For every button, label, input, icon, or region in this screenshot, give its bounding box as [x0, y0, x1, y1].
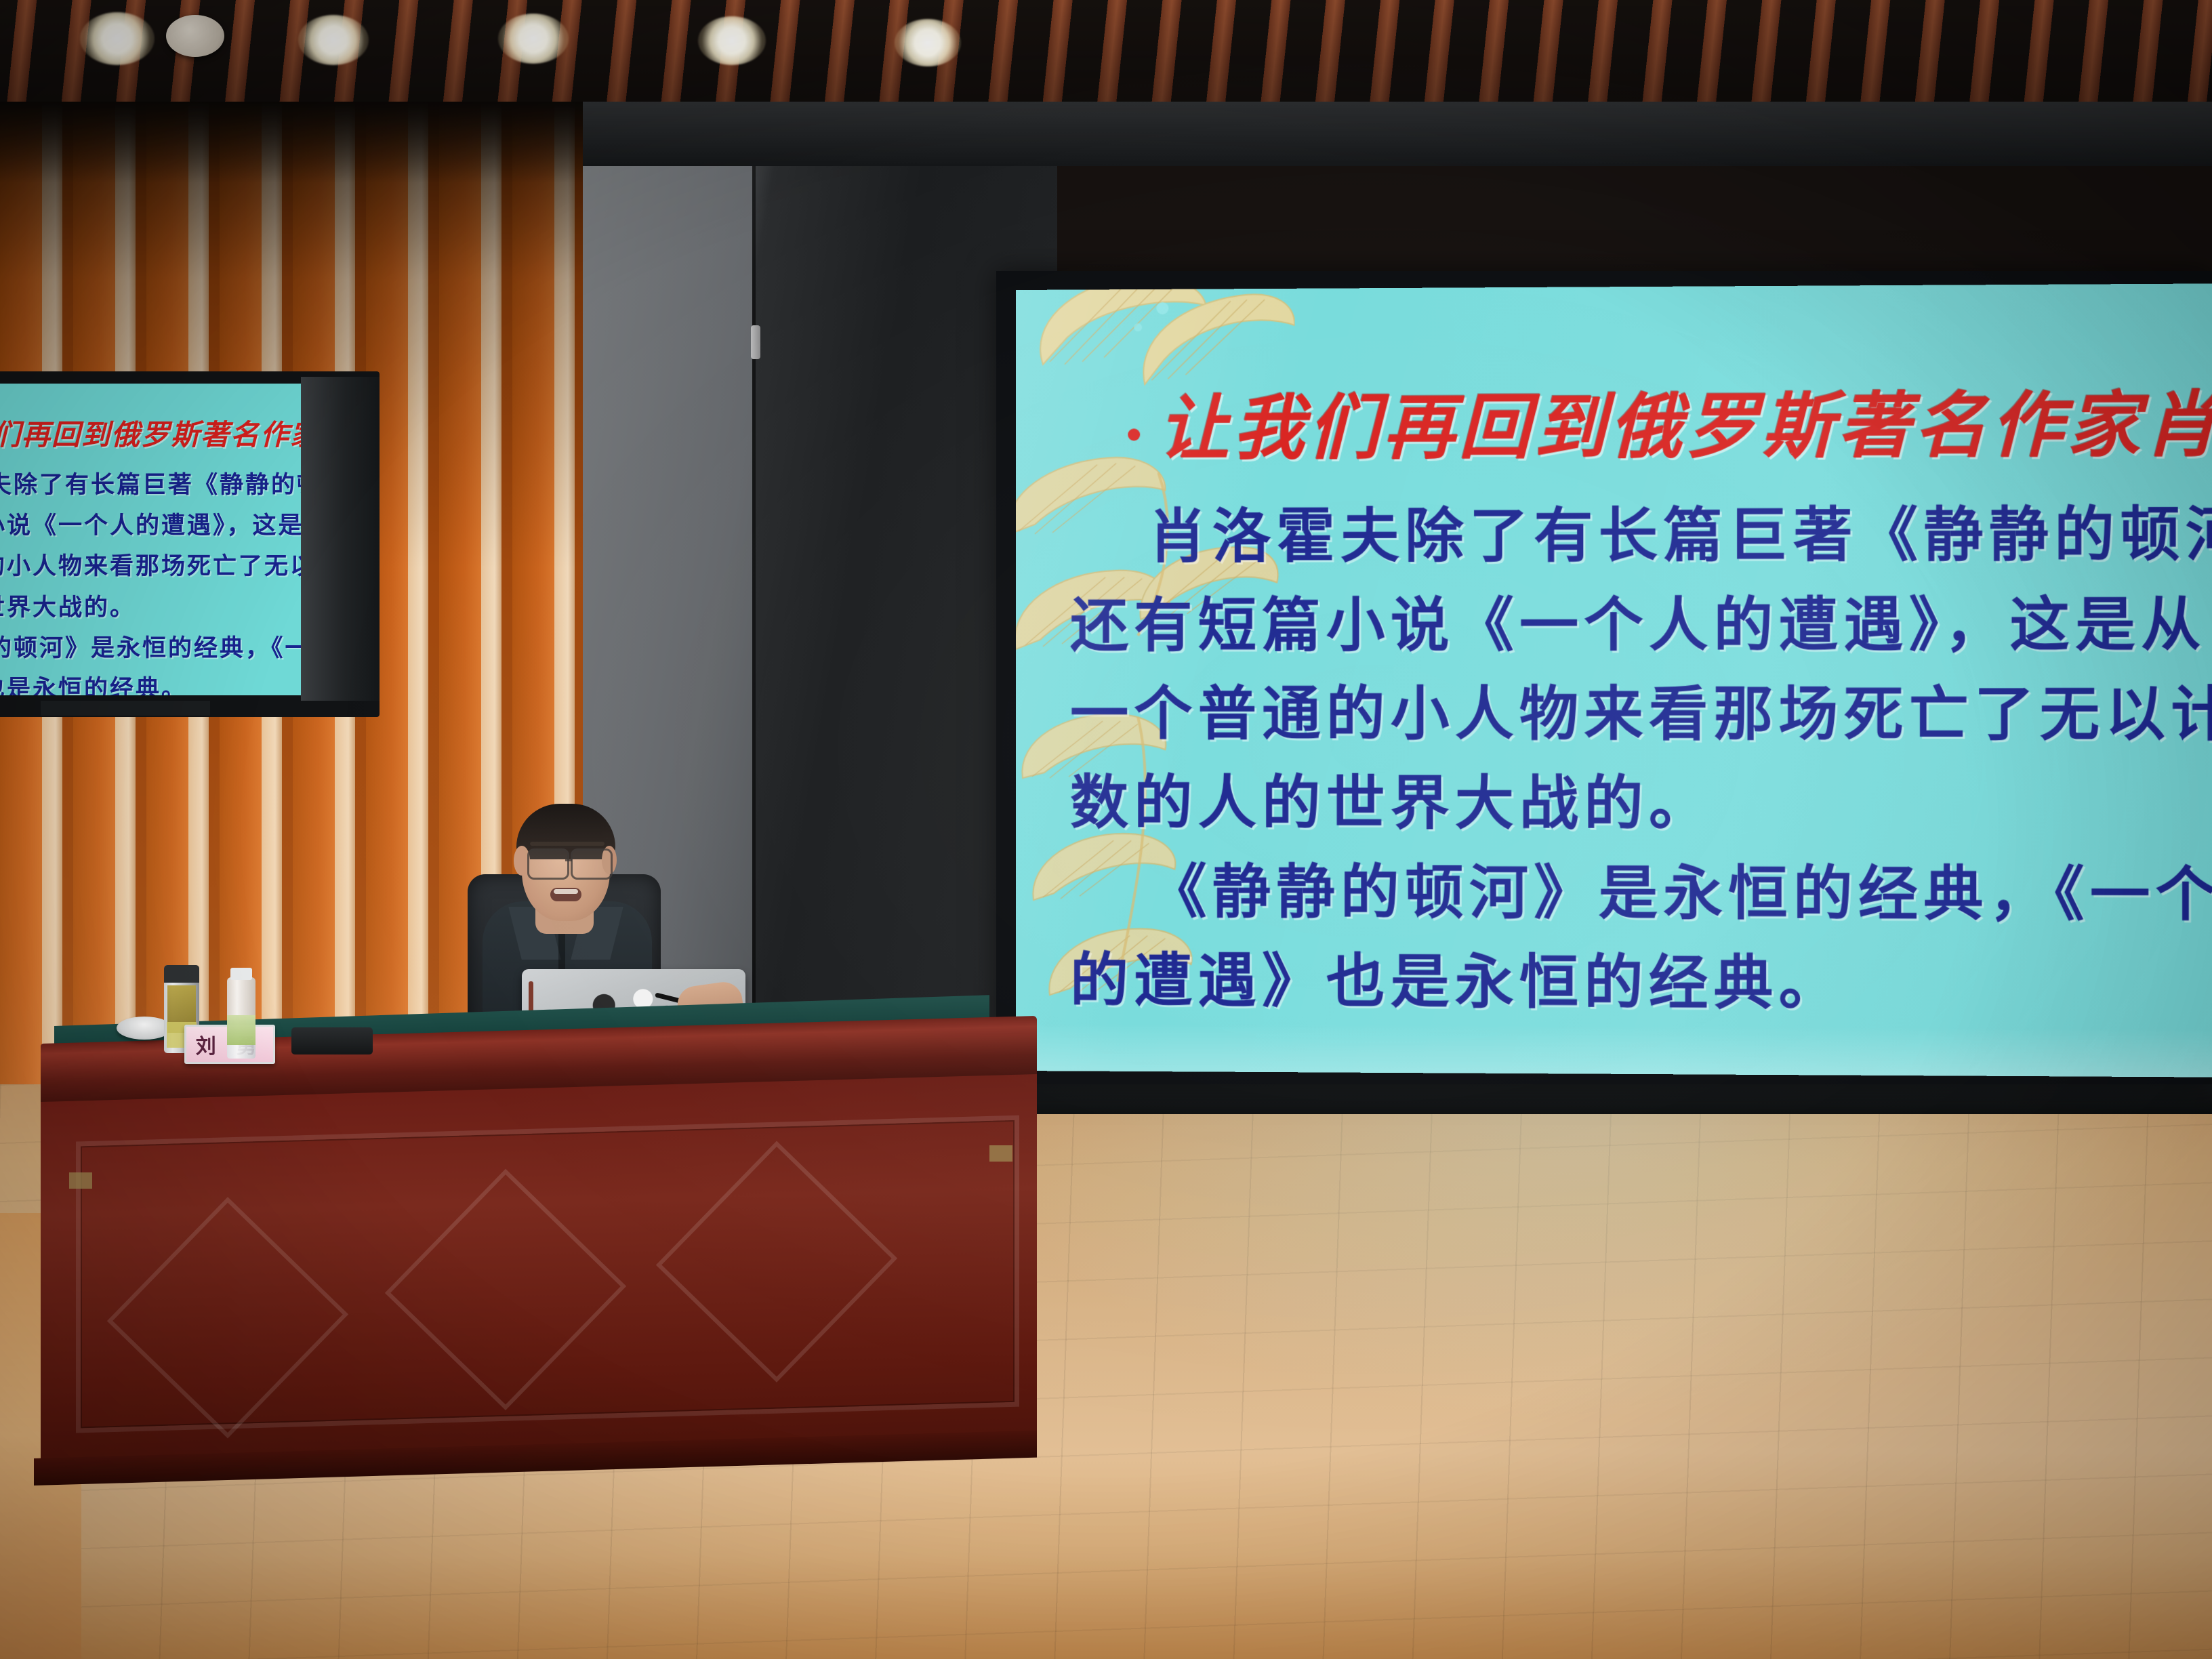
confidence-monitor-screen: 让我们再回到俄罗斯著名作家肖洛霍夫 肖洛霍夫除了有长篇巨著《静静的顿河》， 还有… [0, 384, 301, 695]
slide-body-line: 《静静的顿河》是永恒的经典，《一个人 [1070, 848, 2212, 941]
confidence-monitor-stand [41, 701, 210, 716]
desk-brass-tab [989, 1145, 1012, 1162]
ceiling-downlight [498, 14, 569, 64]
confidence-monitor-body: 肖洛霍夫除了有长篇巨著《静静的顿河》， 还有短篇小说《一个人的遭遇》，这是从 一… [0, 465, 301, 695]
ceiling-downlight [895, 19, 961, 66]
ceiling-downlight [80, 12, 155, 65]
wall-top-shadow [0, 102, 610, 183]
ceiling-downlight [298, 15, 369, 65]
slide-body: 肖洛霍夫除了有长篇巨著《静静的顿河》， 还有短篇小说《一个人的遭遇》，这是从 一… [1070, 490, 2212, 1031]
screen-bottom-glow [1016, 1023, 2212, 1078]
confidence-line: 《静静的顿河》是永恒的经典，《一个人 [0, 628, 301, 669]
confidence-line: 数的人的世界大战的。 [0, 588, 301, 628]
confidence-line: 一个普通的小人物来看那场死亡了无以计 [0, 546, 301, 587]
eyeglasses-lens-right [571, 848, 613, 880]
confidence-line: 肖洛霍夫除了有长篇巨著《静静的顿河》， [0, 465, 301, 506]
title-bullet-dot [1128, 428, 1140, 441]
slide-body-line: 肖洛霍夫除了有长篇巨著《静静的顿河》， [1070, 490, 2212, 581]
confidence-line: 的遭遇》也是永恒的经典。 [0, 669, 301, 695]
slide-title: 让我们再回到俄罗斯著名作家肖洛霍夫 [1158, 365, 2212, 473]
ceiling-downlight [698, 16, 766, 65]
eyeglasses-bridge [565, 859, 572, 861]
bottle-label [227, 1015, 255, 1045]
slide-body-line: 数的人的世界大战的。 [1070, 759, 2212, 851]
speaker-mouth [550, 888, 581, 901]
confidence-line: 还有短篇小说《一个人的遭遇》，这是从 [0, 506, 301, 546]
presenter-desk [41, 1044, 1037, 1532]
thermos-cap [164, 965, 199, 983]
screen-baseboard [983, 1082, 2212, 1114]
desk-brass-tab [69, 1172, 92, 1189]
microphone-base [291, 1027, 373, 1054]
desk-front-panel [41, 1074, 1037, 1481]
floor-screen-reflection [949, 1084, 2212, 1423]
slide-body-line: 的遭遇》也是永恒的经典。 [1070, 937, 2212, 1031]
speaker-teeth [554, 889, 578, 894]
slide-body-line: 一个普通的小人物来看那场死亡了无以计 [1070, 670, 2212, 760]
led-presentation-screen[interactable]: 让我们再回到俄罗斯著名作家肖洛霍夫 肖洛霍夫除了有长篇巨著《静静的顿河》， 还有… [1016, 283, 2212, 1077]
confidence-monitor-title: 让我们再回到俄罗斯著名作家肖洛霍夫 [0, 412, 301, 453]
eyeglasses-lens-left [527, 848, 569, 880]
lecture-hall-photo: 让我们再回到俄罗斯著名作家肖洛霍夫 肖洛霍夫除了有长篇巨著《静静的顿河》， 还有… [0, 0, 2212, 1659]
ceiling-speaker-plate [166, 15, 224, 57]
slide-body-line: 还有短篇小说《一个人的遭遇》，这是从 [1070, 580, 2212, 670]
wall-header-band [583, 102, 2212, 166]
confidence-monitor-bezel [301, 377, 380, 701]
speaker-eyebrows [530, 842, 605, 846]
door-handle[interactable] [751, 325, 760, 359]
water-bottle [227, 977, 255, 1059]
bottle-cap [230, 968, 252, 980]
